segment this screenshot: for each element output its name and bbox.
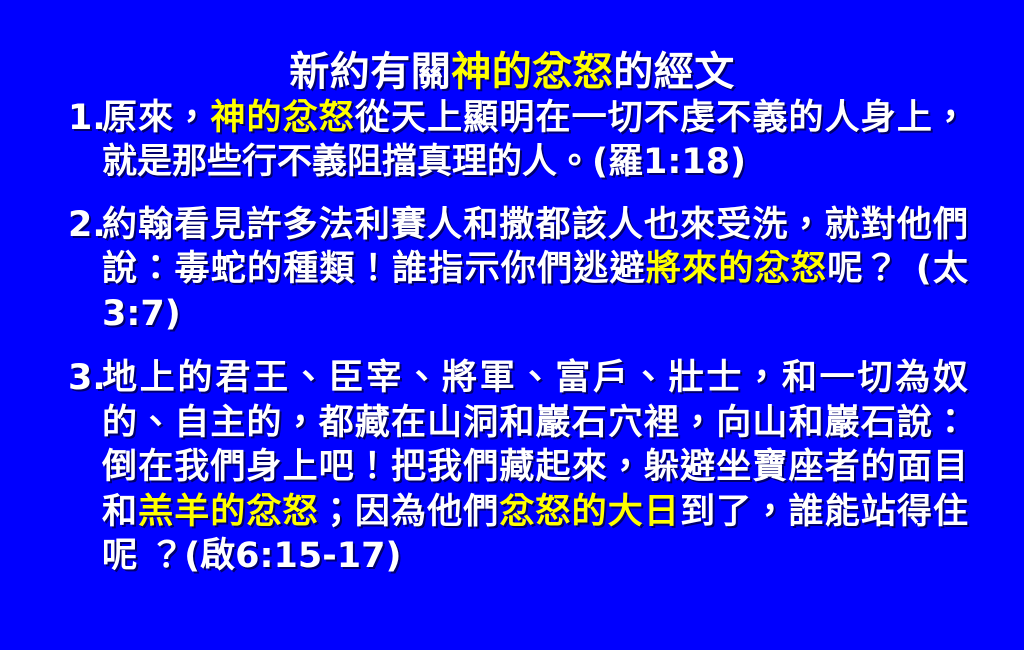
verse-text-1: 原來，神的忿怒從天上顯明在一切不虔不義的人身上，就是那些行不義阻擋真理的人。(羅…: [102, 96, 968, 185]
verse-2-segment-2: 呢？: [827, 249, 900, 289]
verse-text-3: 地上的君王、臣宰、將軍、富戶、壯士，和一切為奴的、自主的，都藏在山洞和巖石穴裡，…: [102, 356, 968, 578]
presentation-slide: 新約有關神的忿怒的經文 1. 原來，神的忿怒從天上顯明在一切不虔不義的人身上，就…: [0, 0, 1024, 650]
title-segment-2: 的經文: [613, 49, 735, 95]
verse-1-highlight-1: 神的忿怒: [210, 98, 355, 138]
verse-2-highlight-1: 將來的忿怒: [646, 249, 827, 289]
verse-1-segment-0: 原來，: [102, 98, 210, 138]
verse-3-segment-2: ；因為他們: [319, 492, 500, 532]
title-segment-0: 新約有關: [289, 49, 451, 95]
slide-title: 新約有關神的忿怒的經文: [0, 49, 1024, 95]
verse-item-1: 1. 原來，神的忿怒從天上顯明在一切不虔不義的人身上，就是那些行不義阻擋真理的人…: [68, 96, 968, 185]
verse-3-highlight-1: 羔羊的忿怒: [138, 492, 319, 532]
verse-list: 1. 原來，神的忿怒從天上顯明在一切不虔不義的人身上，就是那些行不義阻擋真理的人…: [68, 96, 968, 578]
title-highlight-1: 神的忿怒: [451, 49, 613, 95]
verse-item-2: 2. 約翰看見許多法利賽人和撒都該人也來受洗，就對他們說：毒蛇的種類！誰指示你們…: [68, 203, 968, 336]
verse-number-2: 2.: [68, 203, 102, 247]
verse-text-2: 約翰看見許多法利賽人和撒都該人也來受洗，就對他們說：毒蛇的種類！誰指示你們逃避將…: [102, 203, 968, 336]
verse-number-3: 3.: [68, 356, 102, 400]
verse-3-highlight-3: 忿怒的大日: [499, 492, 680, 532]
verse-item-3: 3. 地上的君王、臣宰、將軍、富戶、壯士，和一切為奴的、自主的，都藏在山洞和巖石…: [68, 356, 968, 578]
verse-number-1: 1.: [68, 96, 102, 140]
